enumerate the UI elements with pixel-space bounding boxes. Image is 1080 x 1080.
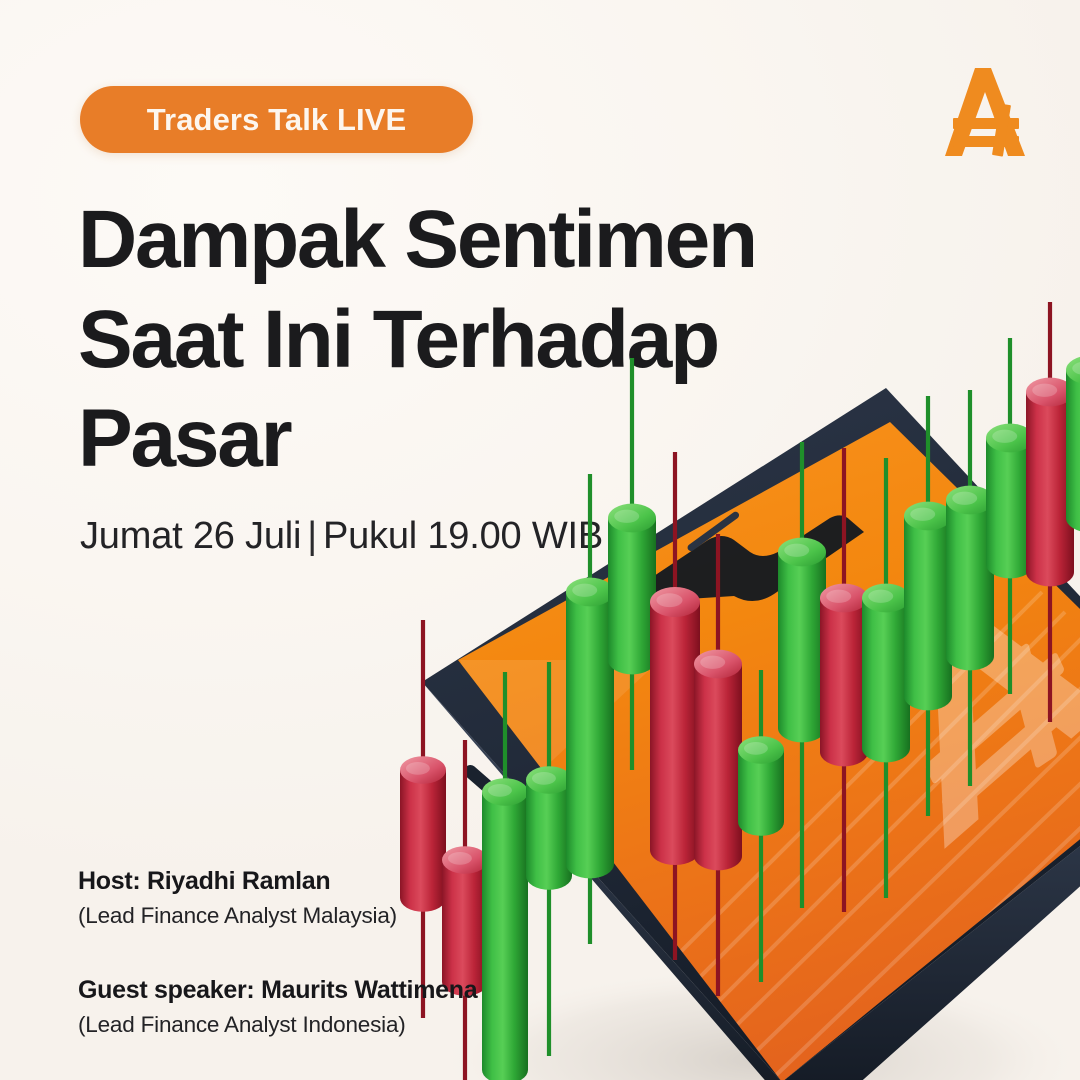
candle-body <box>694 664 742 870</box>
candle-cap-highlight <box>826 590 851 603</box>
schedule-date: Jumat 26 Juli <box>80 515 301 557</box>
live-badge-label: Traders Talk LIVE <box>147 104 407 135</box>
candle-cap-highlight <box>448 852 472 865</box>
candle-body <box>904 516 952 710</box>
credit-guest-name: Guest speaker: Maurits Wattimena <box>78 975 598 1006</box>
headline-line-1: Dampak Sentimen <box>78 190 838 290</box>
candle-cap-highlight <box>657 593 683 607</box>
candle-body <box>608 518 656 674</box>
candle-cap-highlight <box>784 544 809 557</box>
credit-guest-role: (Lead Finance Analyst Indonesia) <box>78 1010 598 1039</box>
candle-body <box>1066 370 1080 532</box>
candle-body <box>778 552 826 742</box>
candle-cap-highlight <box>910 508 935 521</box>
candle-cap-highlight <box>1032 384 1057 397</box>
candle-cap-highlight <box>992 430 1017 443</box>
candle-cap-highlight <box>488 784 512 797</box>
poster-canvas: Traders Talk LIVE Dampak Sentimen Saat I… <box>0 0 1080 1080</box>
candle-body <box>820 598 868 766</box>
candle-cap-highlight <box>700 656 725 669</box>
credit-host: Host: Riyadhi Ramlan (Lead Finance Analy… <box>78 866 598 931</box>
live-badge[interactable]: Traders Talk LIVE <box>80 86 473 153</box>
credit-guest: Guest speaker: Maurits Wattimena (Lead F… <box>78 975 598 1040</box>
candle-body <box>650 602 700 865</box>
candle-cap-highlight <box>406 762 430 775</box>
candle-cap-highlight <box>532 772 556 785</box>
credit-host-role: (Lead Finance Analyst Malaysia) <box>78 901 598 930</box>
brand-a-logo-icon <box>928 62 1038 162</box>
schedule-separator: | <box>301 515 323 557</box>
credits-spacer <box>78 931 598 975</box>
candle-cap-highlight <box>868 590 893 603</box>
candle-body <box>566 592 614 878</box>
candle-body <box>862 598 910 762</box>
candle-cap-highlight <box>614 510 639 523</box>
credits-block: Host: Riyadhi Ramlan (Lead Finance Analy… <box>78 866 598 1039</box>
candle-cap-highlight <box>744 742 768 755</box>
candle-cap-highlight <box>572 584 597 597</box>
candle-cap-highlight <box>952 492 977 505</box>
credit-host-name: Host: Riyadhi Ramlan <box>78 866 598 897</box>
